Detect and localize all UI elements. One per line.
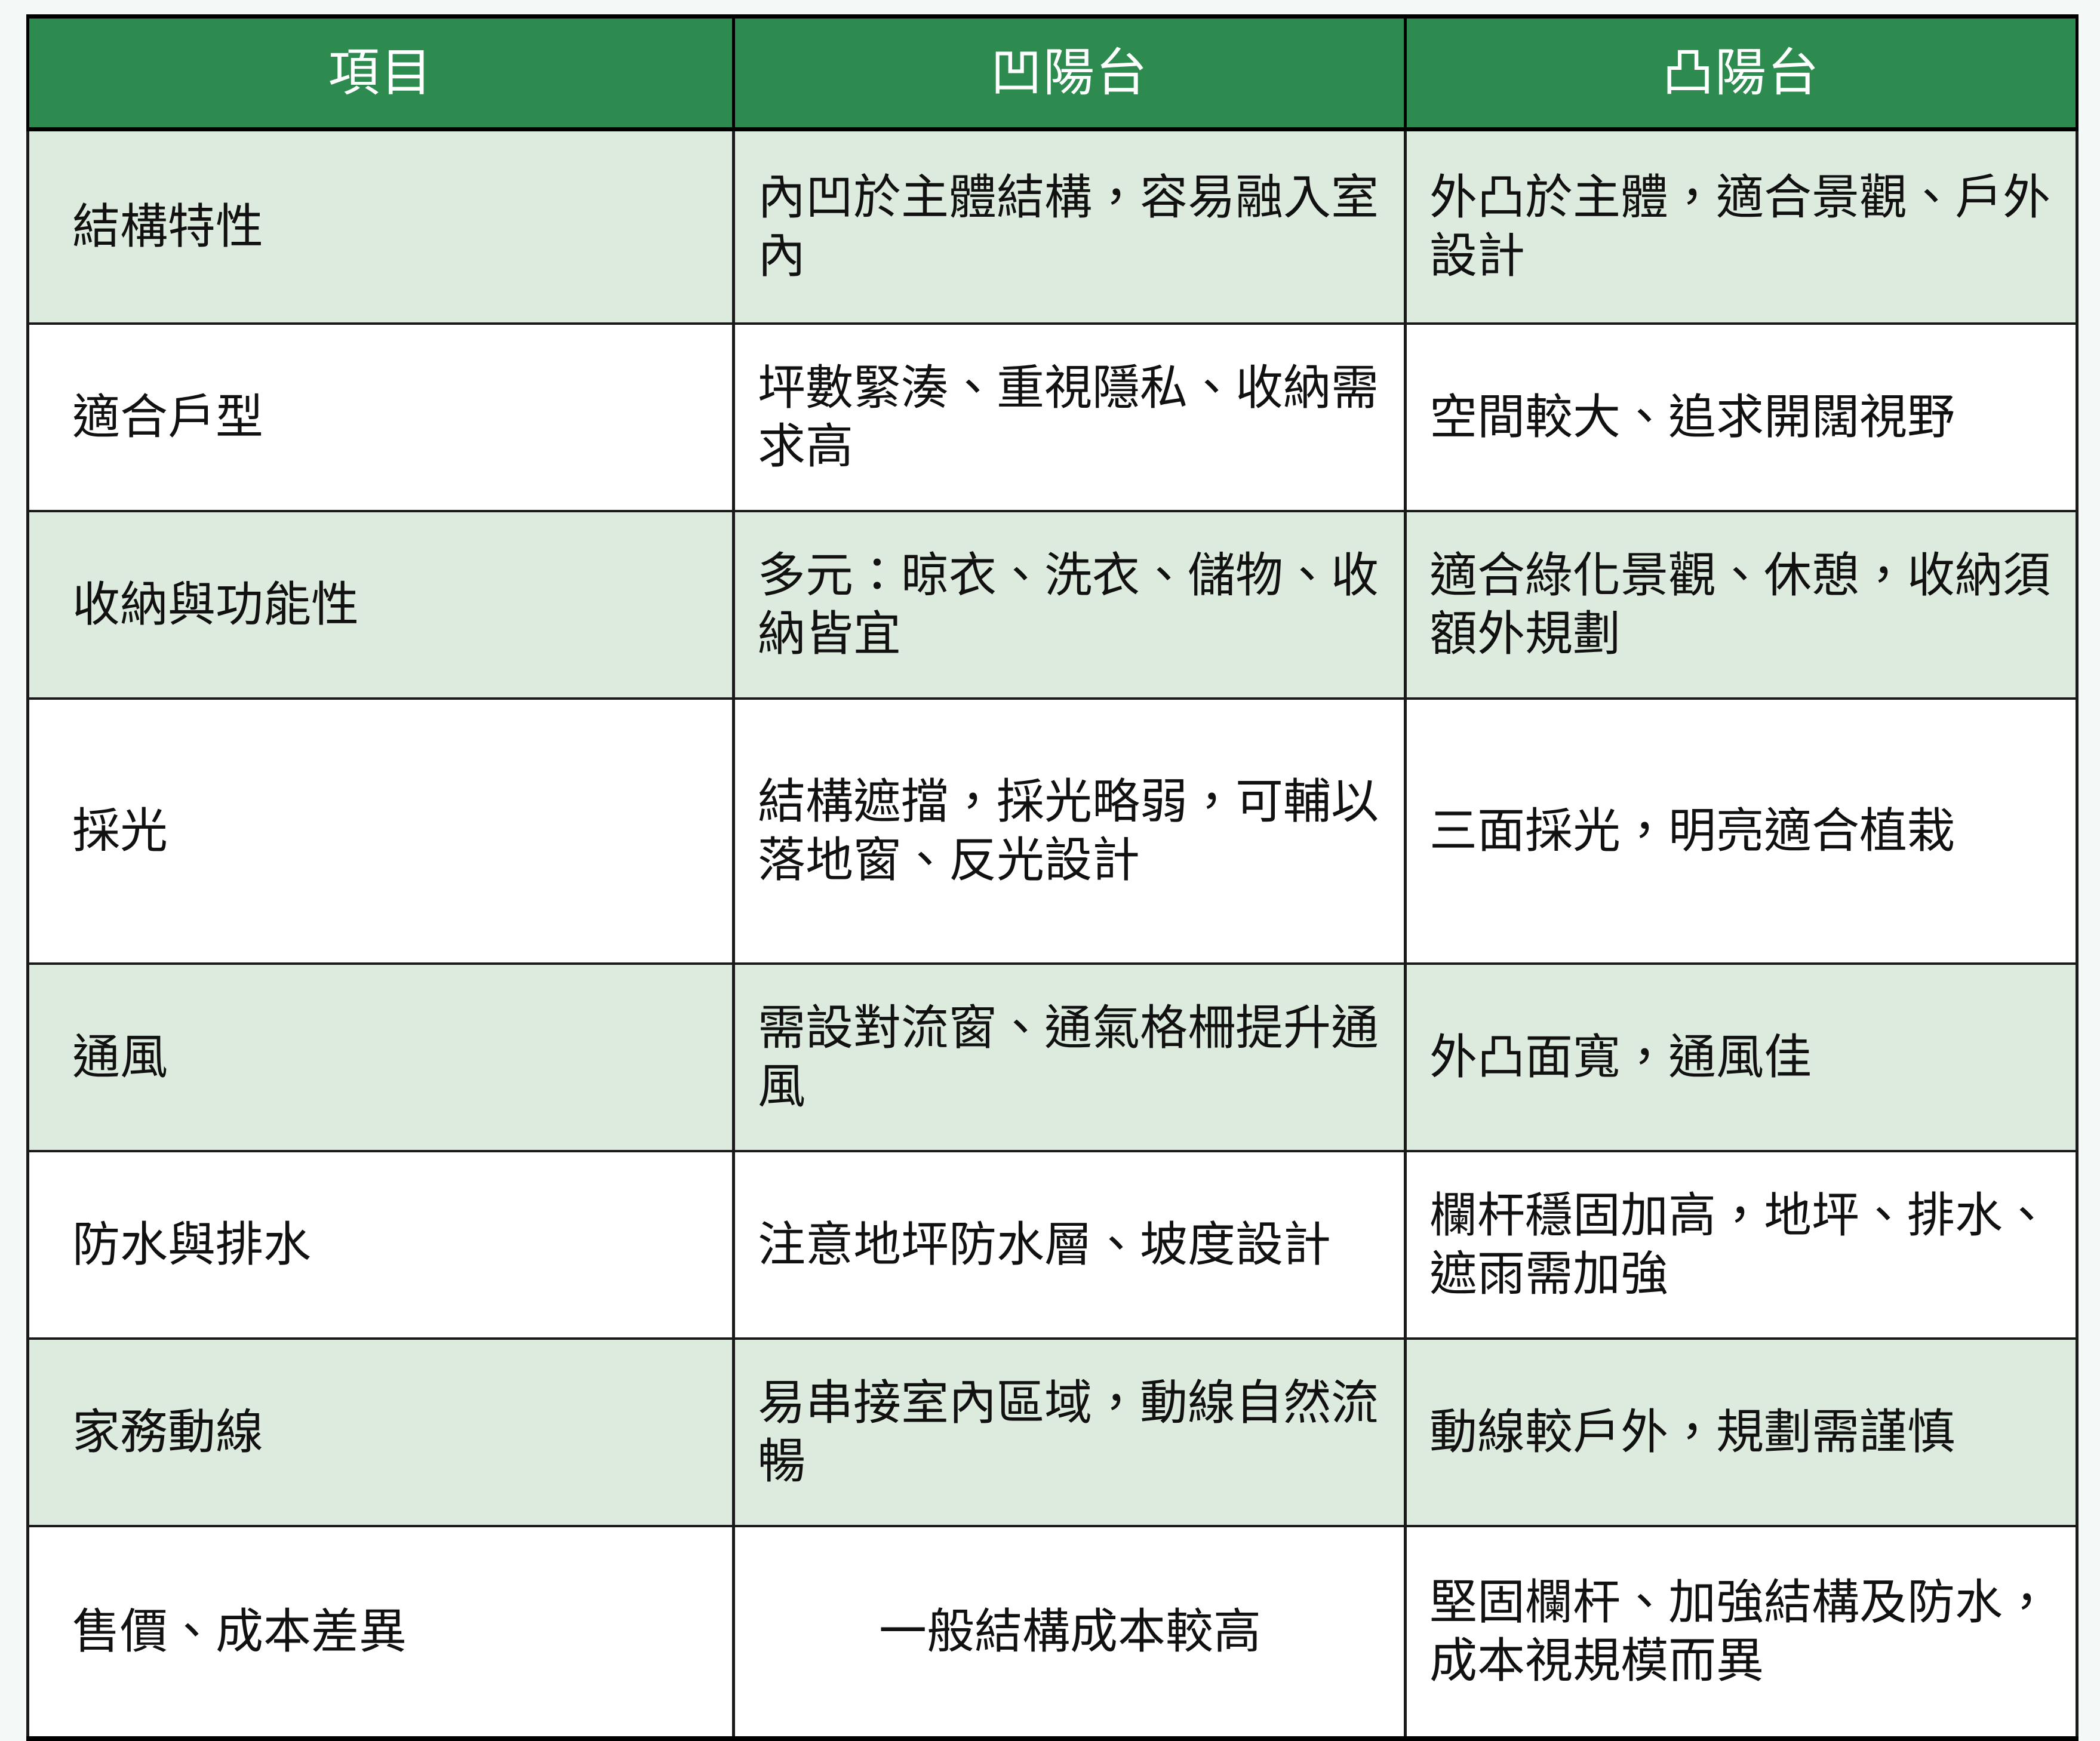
row-label-workflow: 家務動線 [28,1339,734,1526]
cell-outer-waterproofing: 欄杆穩固加高，地坪、排水、遮雨需加強 [1406,1151,2077,1339]
cell-inner-storage: 多元：晾衣、洗衣、儲物、收納皆宜 [734,511,1406,699]
cell-inner-price-cost: 一般結構成本較高 [734,1526,1406,1739]
row-label-storage: 收納與功能性 [28,511,734,699]
cell-inner-lighting: 結構遮擋，採光略弱，可輔以落地窗、反光設計 [734,699,1406,964]
row-label-structure: 結構特性 [28,130,734,324]
cell-outer-storage: 適合綠化景觀、休憩，收納須額外規劃 [1406,511,2077,699]
cell-inner-structure: 內凹於主體結構，容易融入室內 [734,130,1406,324]
column-header-item: 項目 [28,17,734,130]
table-row: 結構特性 內凹於主體結構，容易融入室內 外凸於主體，適合景觀、戶外設計 [28,130,2077,324]
cell-outer-workflow: 動線較戶外，規劃需謹慎 [1406,1339,2077,1526]
header-row: 項目 凹陽台 凸陽台 [28,17,2077,130]
row-label-lighting: 採光 [28,699,734,964]
cell-outer-ventilation: 外凸面寬，通風佳 [1406,964,2077,1151]
cell-inner-workflow: 易串接室內區域，動線自然流暢 [734,1339,1406,1526]
table-header: 項目 凹陽台 凸陽台 [28,17,2077,130]
cell-outer-price-cost: 堅固欄杆、加強結構及防水，成本視規模而異 [1406,1526,2077,1739]
cell-outer-household-type: 空間較大、追求開闊視野 [1406,324,2077,511]
row-label-price-cost: 售價、成本差異 [28,1526,734,1739]
table-row: 通風 需設對流窗、通氣格柵提升通風 外凸面寬，通風佳 [28,964,2077,1151]
cell-inner-waterproofing: 注意地坪防水層、坡度設計 [734,1151,1406,1339]
table-row: 適合戶型 坪數緊湊、重視隱私、收納需求高 空間較大、追求開闊視野 [28,324,2077,511]
column-header-outer: 凸陽台 [1406,17,2077,130]
table-row: 收納與功能性 多元：晾衣、洗衣、儲物、收納皆宜 適合綠化景觀、休憩，收納須額外規… [28,511,2077,699]
cell-inner-household-type: 坪數緊湊、重視隱私、收納需求高 [734,324,1406,511]
row-label-ventilation: 通風 [28,964,734,1151]
table-row: 家務動線 易串接室內區域，動線自然流暢 動線較戶外，規劃需謹慎 [28,1339,2077,1526]
cell-outer-lighting: 三面採光，明亮適合植栽 [1406,699,2077,964]
cell-inner-ventilation: 需設對流窗、通氣格柵提升通風 [734,964,1406,1151]
row-label-household-type: 適合戶型 [28,324,734,511]
table-body: 結構特性 內凹於主體結構，容易融入室內 外凸於主體，適合景觀、戶外設計 適合戶型… [28,130,2077,1739]
comparison-table-container: 項目 凹陽台 凸陽台 結構特性 內凹於主體結構，容易融入室內 外凸於主體，適合景… [26,14,2076,1680]
table-row: 防水與排水 注意地坪防水層、坡度設計 欄杆穩固加高，地坪、排水、遮雨需加強 [28,1151,2077,1339]
table-row: 售價、成本差異 一般結構成本較高 堅固欄杆、加強結構及防水，成本視規模而異 [28,1526,2077,1739]
balcony-comparison-table: 項目 凹陽台 凸陽台 結構特性 內凹於主體結構，容易融入室內 外凸於主體，適合景… [26,14,2079,1741]
cell-outer-structure: 外凸於主體，適合景觀、戶外設計 [1406,130,2077,324]
column-header-inner: 凹陽台 [734,17,1406,130]
row-label-waterproofing: 防水與排水 [28,1151,734,1339]
table-row: 採光 結構遮擋，採光略弱，可輔以落地窗、反光設計 三面採光，明亮適合植栽 [28,699,2077,964]
